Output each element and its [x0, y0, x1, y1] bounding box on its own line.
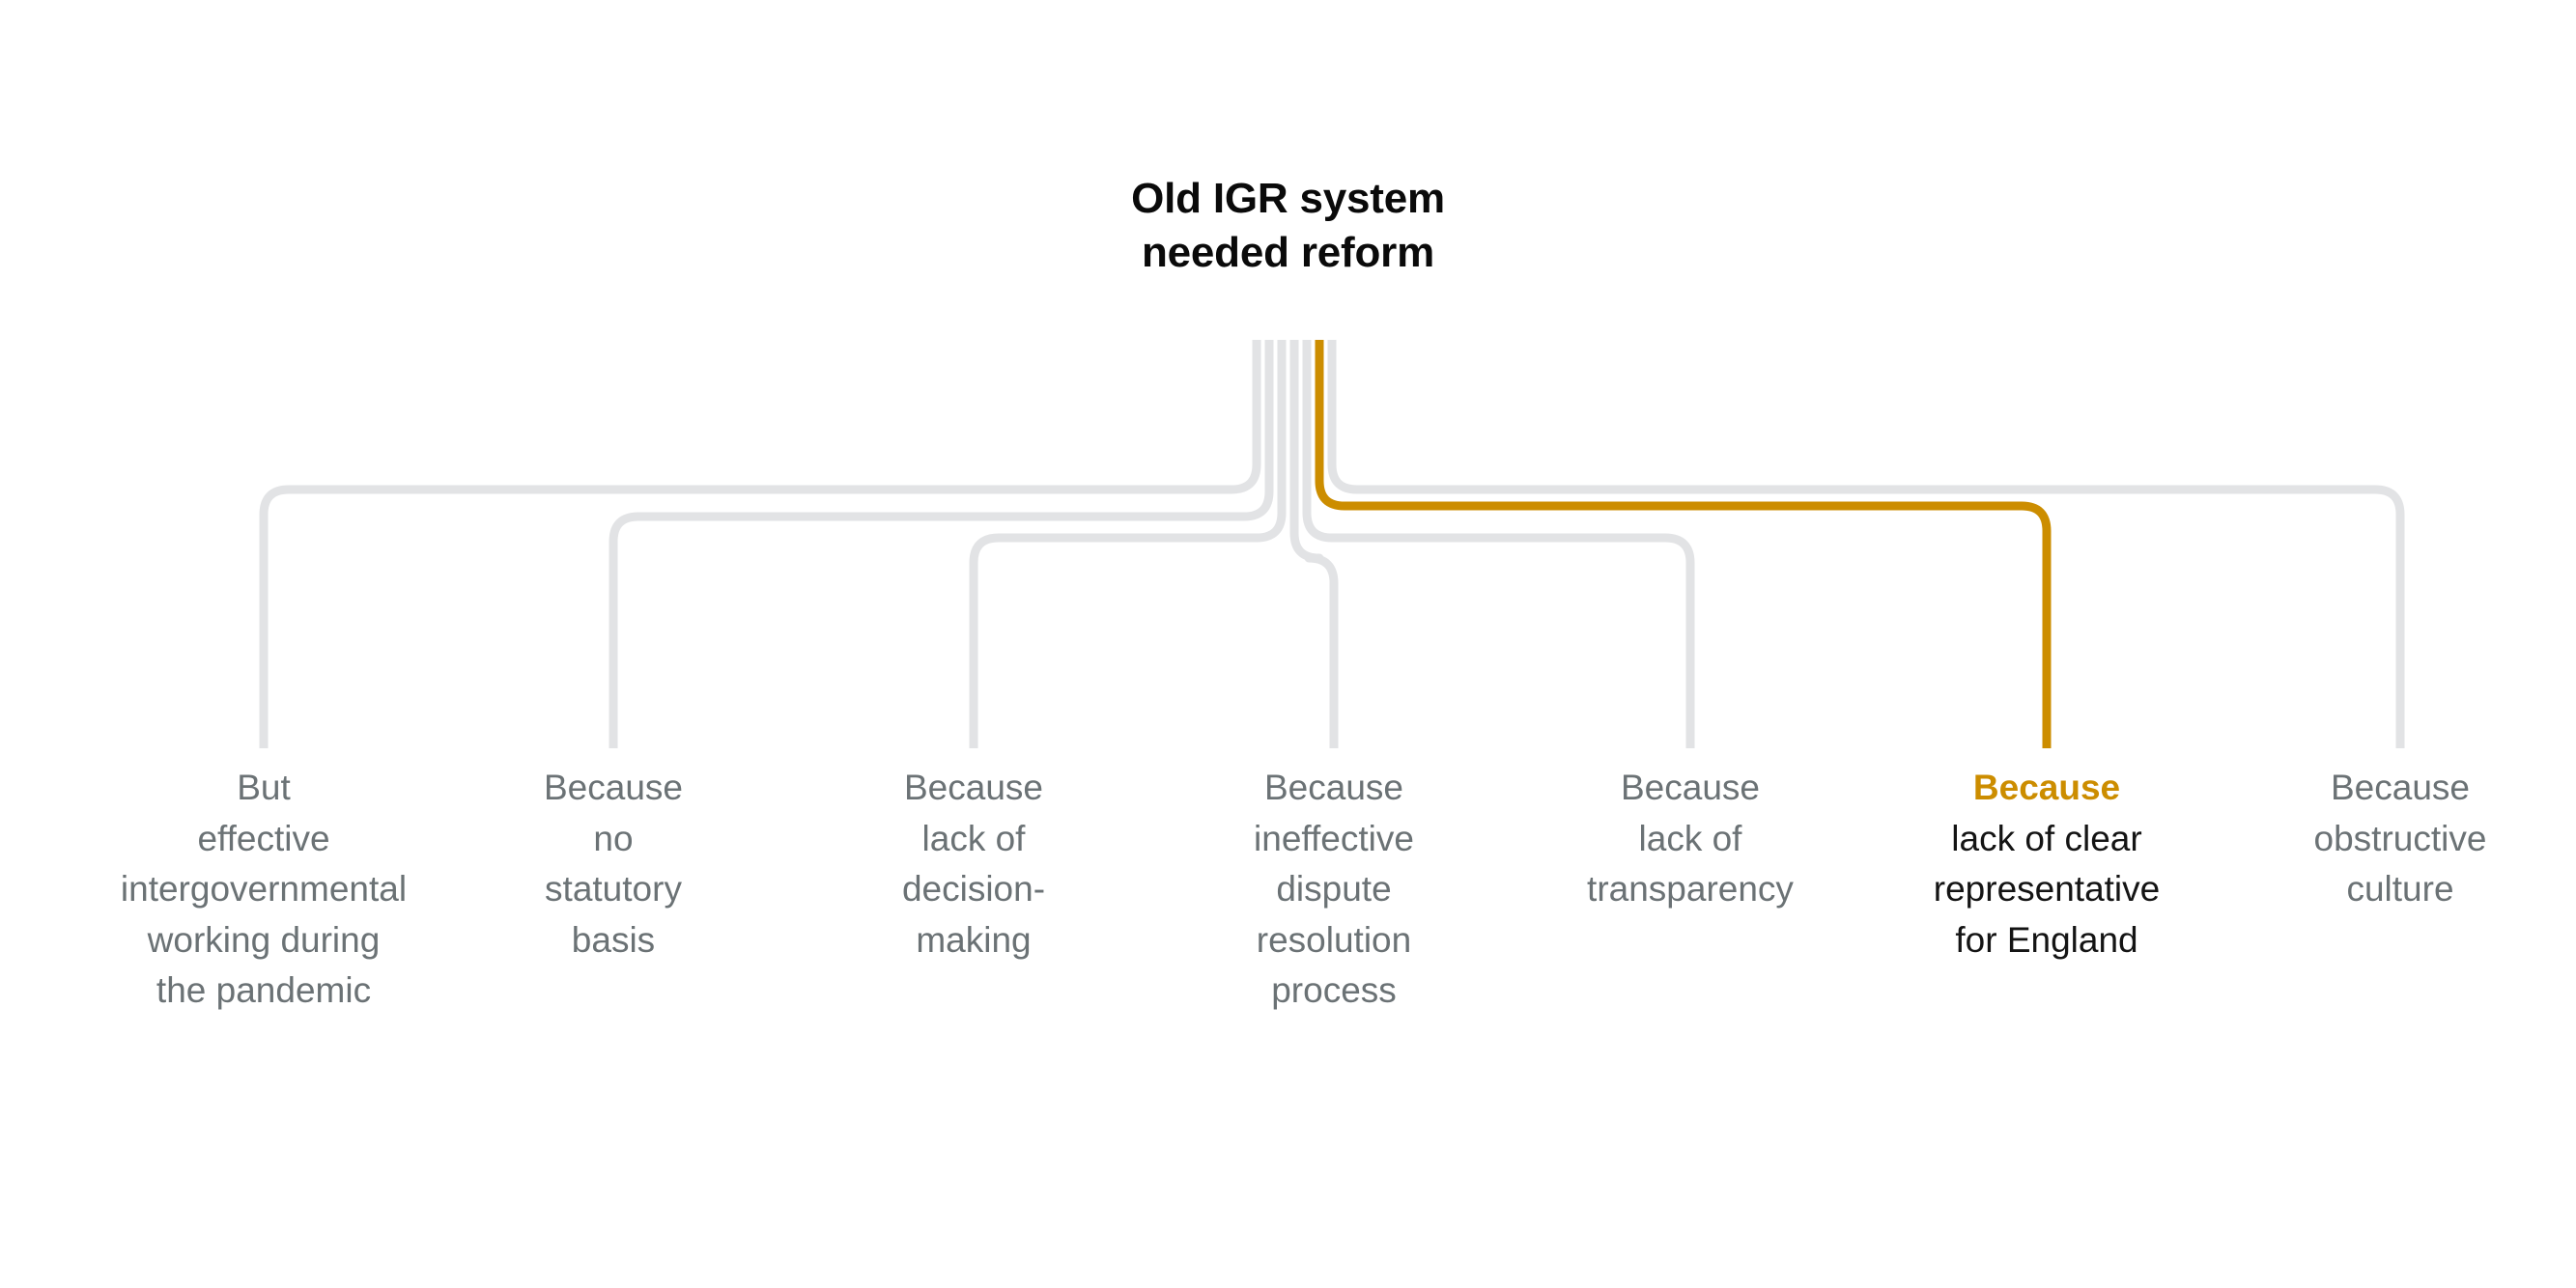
leaf-body-text: ineffective dispute resolution process — [1170, 814, 1498, 1017]
leaf-keyword: Because — [449, 763, 778, 814]
leaf-body-text: effective intergovernmental working duri… — [99, 814, 428, 1017]
leaf-keyword: Because — [2236, 763, 2564, 814]
connector-link — [1332, 340, 2400, 748]
leaf-node-4[interactable]: Becauseineffective dispute resolution pr… — [1170, 763, 1498, 1017]
connector-link — [974, 340, 1282, 748]
leaf-node-6[interactable]: Becauselack of clear representative for … — [1882, 763, 2211, 966]
connector-links — [0, 0, 2576, 1288]
leaf-node-2[interactable]: Becauseno statutory basis — [449, 763, 778, 966]
leaf-node-1[interactable]: Buteffective intergovernmental working d… — [99, 763, 428, 1017]
leaf-keyword: Because — [1882, 763, 2211, 814]
leaf-body-text: lack of clear representative for England — [1882, 814, 2211, 966]
leaf-body-text: lack of decision- making — [809, 814, 1138, 966]
connector-link — [264, 340, 1257, 748]
leaf-node-7[interactable]: Becauseobstructive culture — [2236, 763, 2564, 915]
leaf-keyword: Because — [1170, 763, 1498, 814]
leaf-keyword: Because — [809, 763, 1138, 814]
leaf-body-text: lack of transparency — [1526, 814, 1854, 915]
connector-link — [613, 340, 1269, 748]
leaf-keyword: Because — [1526, 763, 1854, 814]
leaf-body-text: obstructive culture — [2236, 814, 2564, 915]
leaf-node-5[interactable]: Becauselack of transparency — [1526, 763, 1854, 915]
leaf-keyword: But — [99, 763, 428, 814]
leaf-node-3[interactable]: Becauselack of decision- making — [809, 763, 1138, 966]
diagram-canvas: Old IGR system needed reform Buteffectiv… — [0, 0, 2576, 1288]
connector-link — [1307, 340, 1690, 748]
leaf-body-text: no statutory basis — [449, 814, 778, 966]
